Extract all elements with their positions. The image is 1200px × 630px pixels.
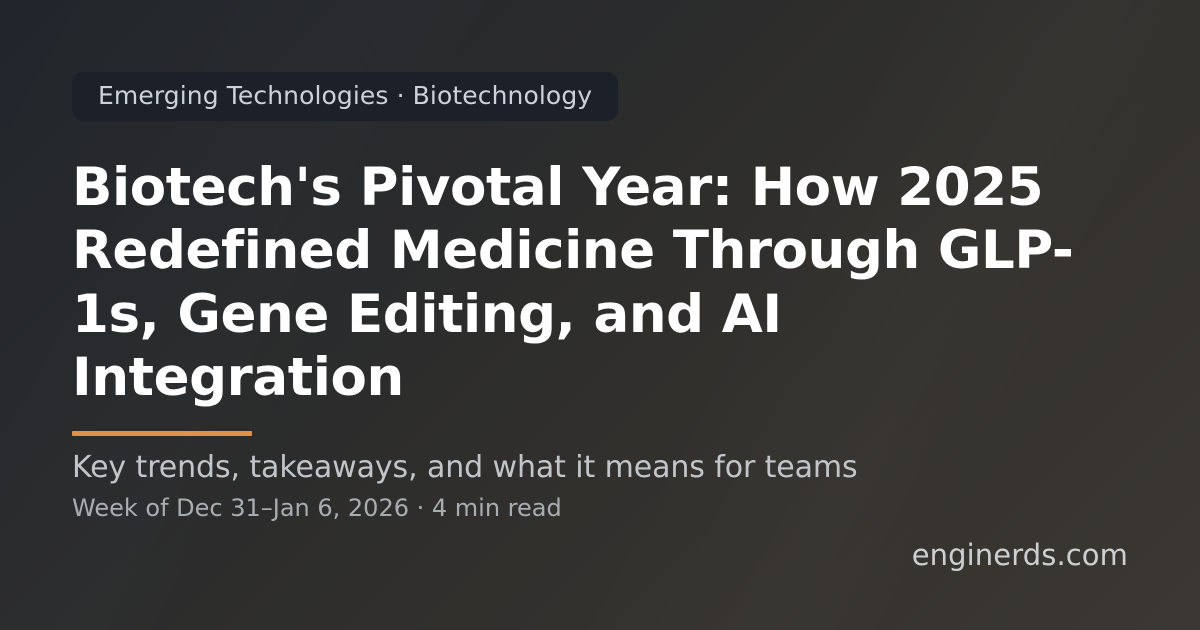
meta-line: Week of Dec 31–Jan 6, 2026 · 4 min read [72,494,1128,523]
subtitle: Key trends, takeaways, and what it means… [72,450,1128,486]
category-badge: Emerging Technologies · Biotechnology [72,72,618,121]
card-content: Emerging Technologies · Biotechnology Bi… [0,0,1200,630]
headline: Biotech's Pivotal Year: How 2025 Redefin… [72,156,1128,409]
social-share-card: Emerging Technologies · Biotechnology Bi… [0,0,1200,630]
accent-rule [72,431,252,436]
